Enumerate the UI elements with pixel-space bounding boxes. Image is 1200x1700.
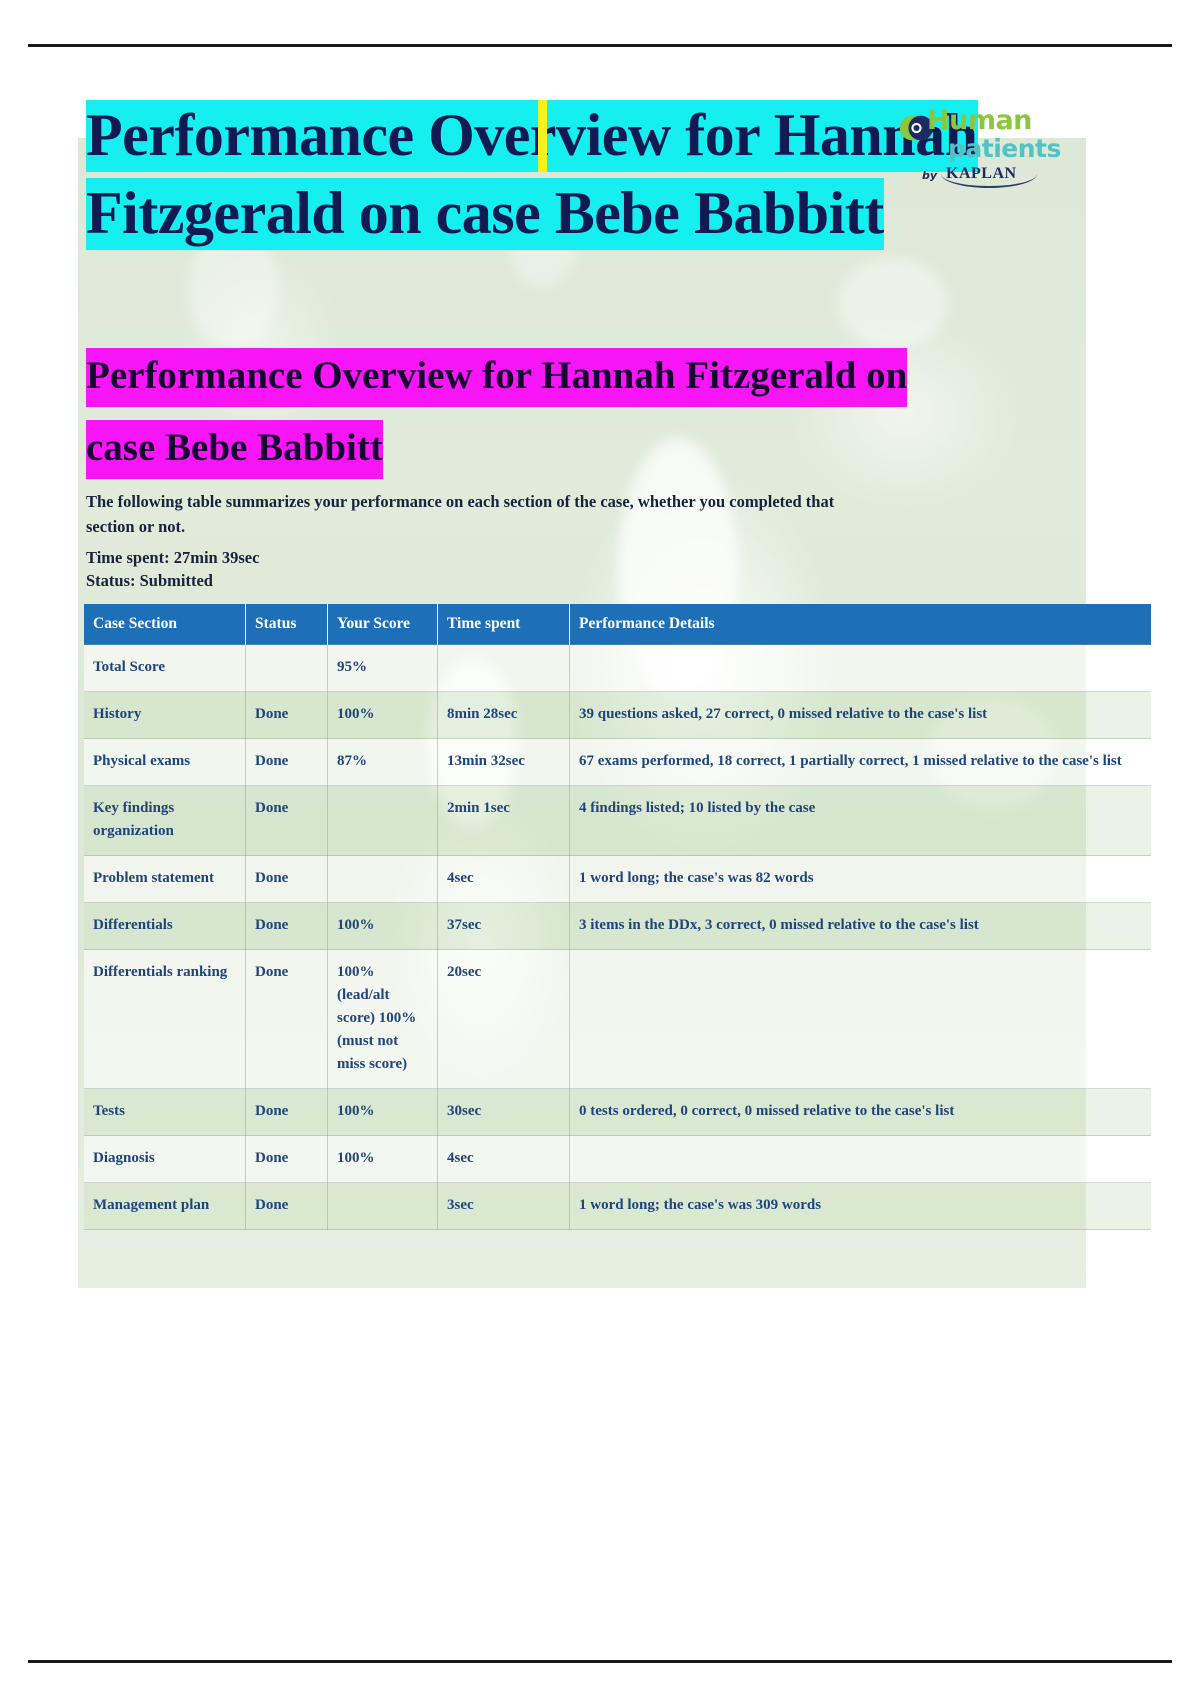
cell-your-score: 100% — [328, 692, 438, 739]
cell-performance-details: 39 questions asked, 27 correct, 0 missed… — [570, 692, 1152, 739]
cell-case-section: Differentials — [84, 903, 246, 950]
cell-status: Done — [246, 692, 328, 739]
cell-case-section: Tests — [84, 1089, 246, 1136]
cell-your-score: 100% — [328, 1136, 438, 1183]
cell-time-spent: 4sec — [438, 1136, 570, 1183]
cell-case-section: Physical exams — [84, 739, 246, 786]
cell-your-score — [328, 856, 438, 903]
page-title-magenta-text: Performance Overview for Hannah Fitzgera… — [86, 348, 907, 479]
cell-status: Done — [246, 856, 328, 903]
cell-case-section: Key findings organization — [84, 786, 246, 856]
logo-word-human: Human — [927, 105, 1032, 136]
cell-status: Done — [246, 786, 328, 856]
page-title-magenta: Performance Overview for Hannah Fitzgera… — [86, 340, 956, 484]
logo-by-label: by — [922, 169, 937, 182]
table-row: Differentials ranking Done 100% (lead/al… — [84, 950, 1151, 1089]
cell-your-score — [328, 1183, 438, 1230]
page-rule-top — [28, 44, 1172, 47]
case-meta: Time spent: 27min 39sec Status: Submitte… — [86, 546, 259, 592]
cell-status: Done — [246, 1136, 328, 1183]
table-row: Diagnosis Done 100% 4sec — [84, 1136, 1151, 1183]
cell-case-section: Problem statement — [84, 856, 246, 903]
cell-your-score: 100% — [328, 1089, 438, 1136]
cell-performance-details — [570, 950, 1152, 1089]
cell-time-spent: 30sec — [438, 1089, 570, 1136]
table-row: Differentials Done 100% 37sec 3 items in… — [84, 903, 1151, 950]
performance-table-body: Total Score 95% History Done 100% 8min 2… — [84, 645, 1151, 1230]
table-row: Tests Done 100% 30sec 0 tests ordered, 0… — [84, 1089, 1151, 1136]
cell-performance-details: 1 word long; the case's was 309 words — [570, 1183, 1152, 1230]
cell-case-section: Total Score — [84, 645, 246, 692]
page-title-cyan-text: Performance Overview for Hannah Fitzgera… — [86, 100, 978, 250]
cell-case-section: Management plan — [84, 1183, 246, 1230]
cell-status: Done — [246, 1183, 328, 1230]
intro-paragraph: The following table summarizes your perf… — [86, 489, 866, 539]
table-header-row: Case Section Status Your Score Time spen… — [84, 604, 1151, 645]
scanned-page: Performance Overview for Hannah Fitzgera… — [0, 0, 1200, 1700]
table-row: Total Score 95% — [84, 645, 1151, 692]
column-header-your-score: Your Score — [328, 604, 438, 645]
human-patients-kaplan-logo: Human patients by KAPLAN — [897, 103, 1047, 193]
cell-time-spent: 8min 28sec — [438, 692, 570, 739]
table-row: Physical exams Done 87% 13min 32sec 67 e… — [84, 739, 1151, 786]
cell-case-section: History — [84, 692, 246, 739]
table-row: History Done 100% 8min 28sec 39 question… — [84, 692, 1151, 739]
table-row: Management plan Done 3sec 1 word long; t… — [84, 1183, 1151, 1230]
status-line: Status: Submitted — [86, 569, 259, 592]
cell-performance-details: 0 tests ordered, 0 correct, 0 missed rel… — [570, 1089, 1152, 1136]
logo-kaplan-wordmark: KAPLAN — [946, 165, 1017, 183]
text-cursor-caret — [538, 100, 547, 172]
cell-time-spent: 37sec — [438, 903, 570, 950]
cell-performance-details: 4 findings listed; 10 listed by the case — [570, 786, 1152, 856]
cell-status — [246, 645, 328, 692]
performance-table: Case Section Status Your Score Time spen… — [84, 604, 1151, 1230]
cell-your-score: 100% — [328, 903, 438, 950]
cell-status: Done — [246, 903, 328, 950]
column-header-case-section: Case Section — [84, 604, 246, 645]
cell-performance-details: 1 word long; the case's was 82 words — [570, 856, 1152, 903]
column-header-performance-details: Performance Details — [570, 604, 1152, 645]
cell-performance-details — [570, 645, 1152, 692]
cell-performance-details: 67 exams performed, 18 correct, 1 partia… — [570, 739, 1152, 786]
cell-case-section: Differentials ranking — [84, 950, 246, 1089]
cell-time-spent: 4sec — [438, 856, 570, 903]
time-spent-line: Time spent: 27min 39sec — [86, 546, 259, 569]
column-header-time-spent: Time spent — [438, 604, 570, 645]
cell-time-spent: 2min 1sec — [438, 786, 570, 856]
cell-your-score: 95% — [328, 645, 438, 692]
cell-status: Done — [246, 1089, 328, 1136]
cell-performance-details — [570, 1136, 1152, 1183]
cell-case-section: Diagnosis — [84, 1136, 246, 1183]
table-row: Key findings organization Done 2min 1sec… — [84, 786, 1151, 856]
cell-performance-details: 3 items in the DDx, 3 correct, 0 missed … — [570, 903, 1152, 950]
page-rule-bottom — [28, 1660, 1172, 1663]
cell-time-spent: 20sec — [438, 950, 570, 1089]
cell-your-score — [328, 786, 438, 856]
cell-status: Done — [246, 739, 328, 786]
performance-table-head: Case Section Status Your Score Time spen… — [84, 604, 1151, 645]
cell-time-spent: 3sec — [438, 1183, 570, 1230]
cell-your-score: 87% — [328, 739, 438, 786]
column-header-status: Status — [246, 604, 328, 645]
cell-time-spent — [438, 645, 570, 692]
cell-time-spent: 13min 32sec — [438, 739, 570, 786]
cell-status: Done — [246, 950, 328, 1089]
logo-word-patients: patients — [948, 134, 1061, 163]
table-row: Problem statement Done 4sec 1 word long;… — [84, 856, 1151, 903]
cell-your-score: 100% (lead/alt score) 100% (must not mis… — [328, 950, 438, 1089]
performance-table-wrapper: Case Section Status Your Score Time spen… — [84, 604, 1057, 1230]
